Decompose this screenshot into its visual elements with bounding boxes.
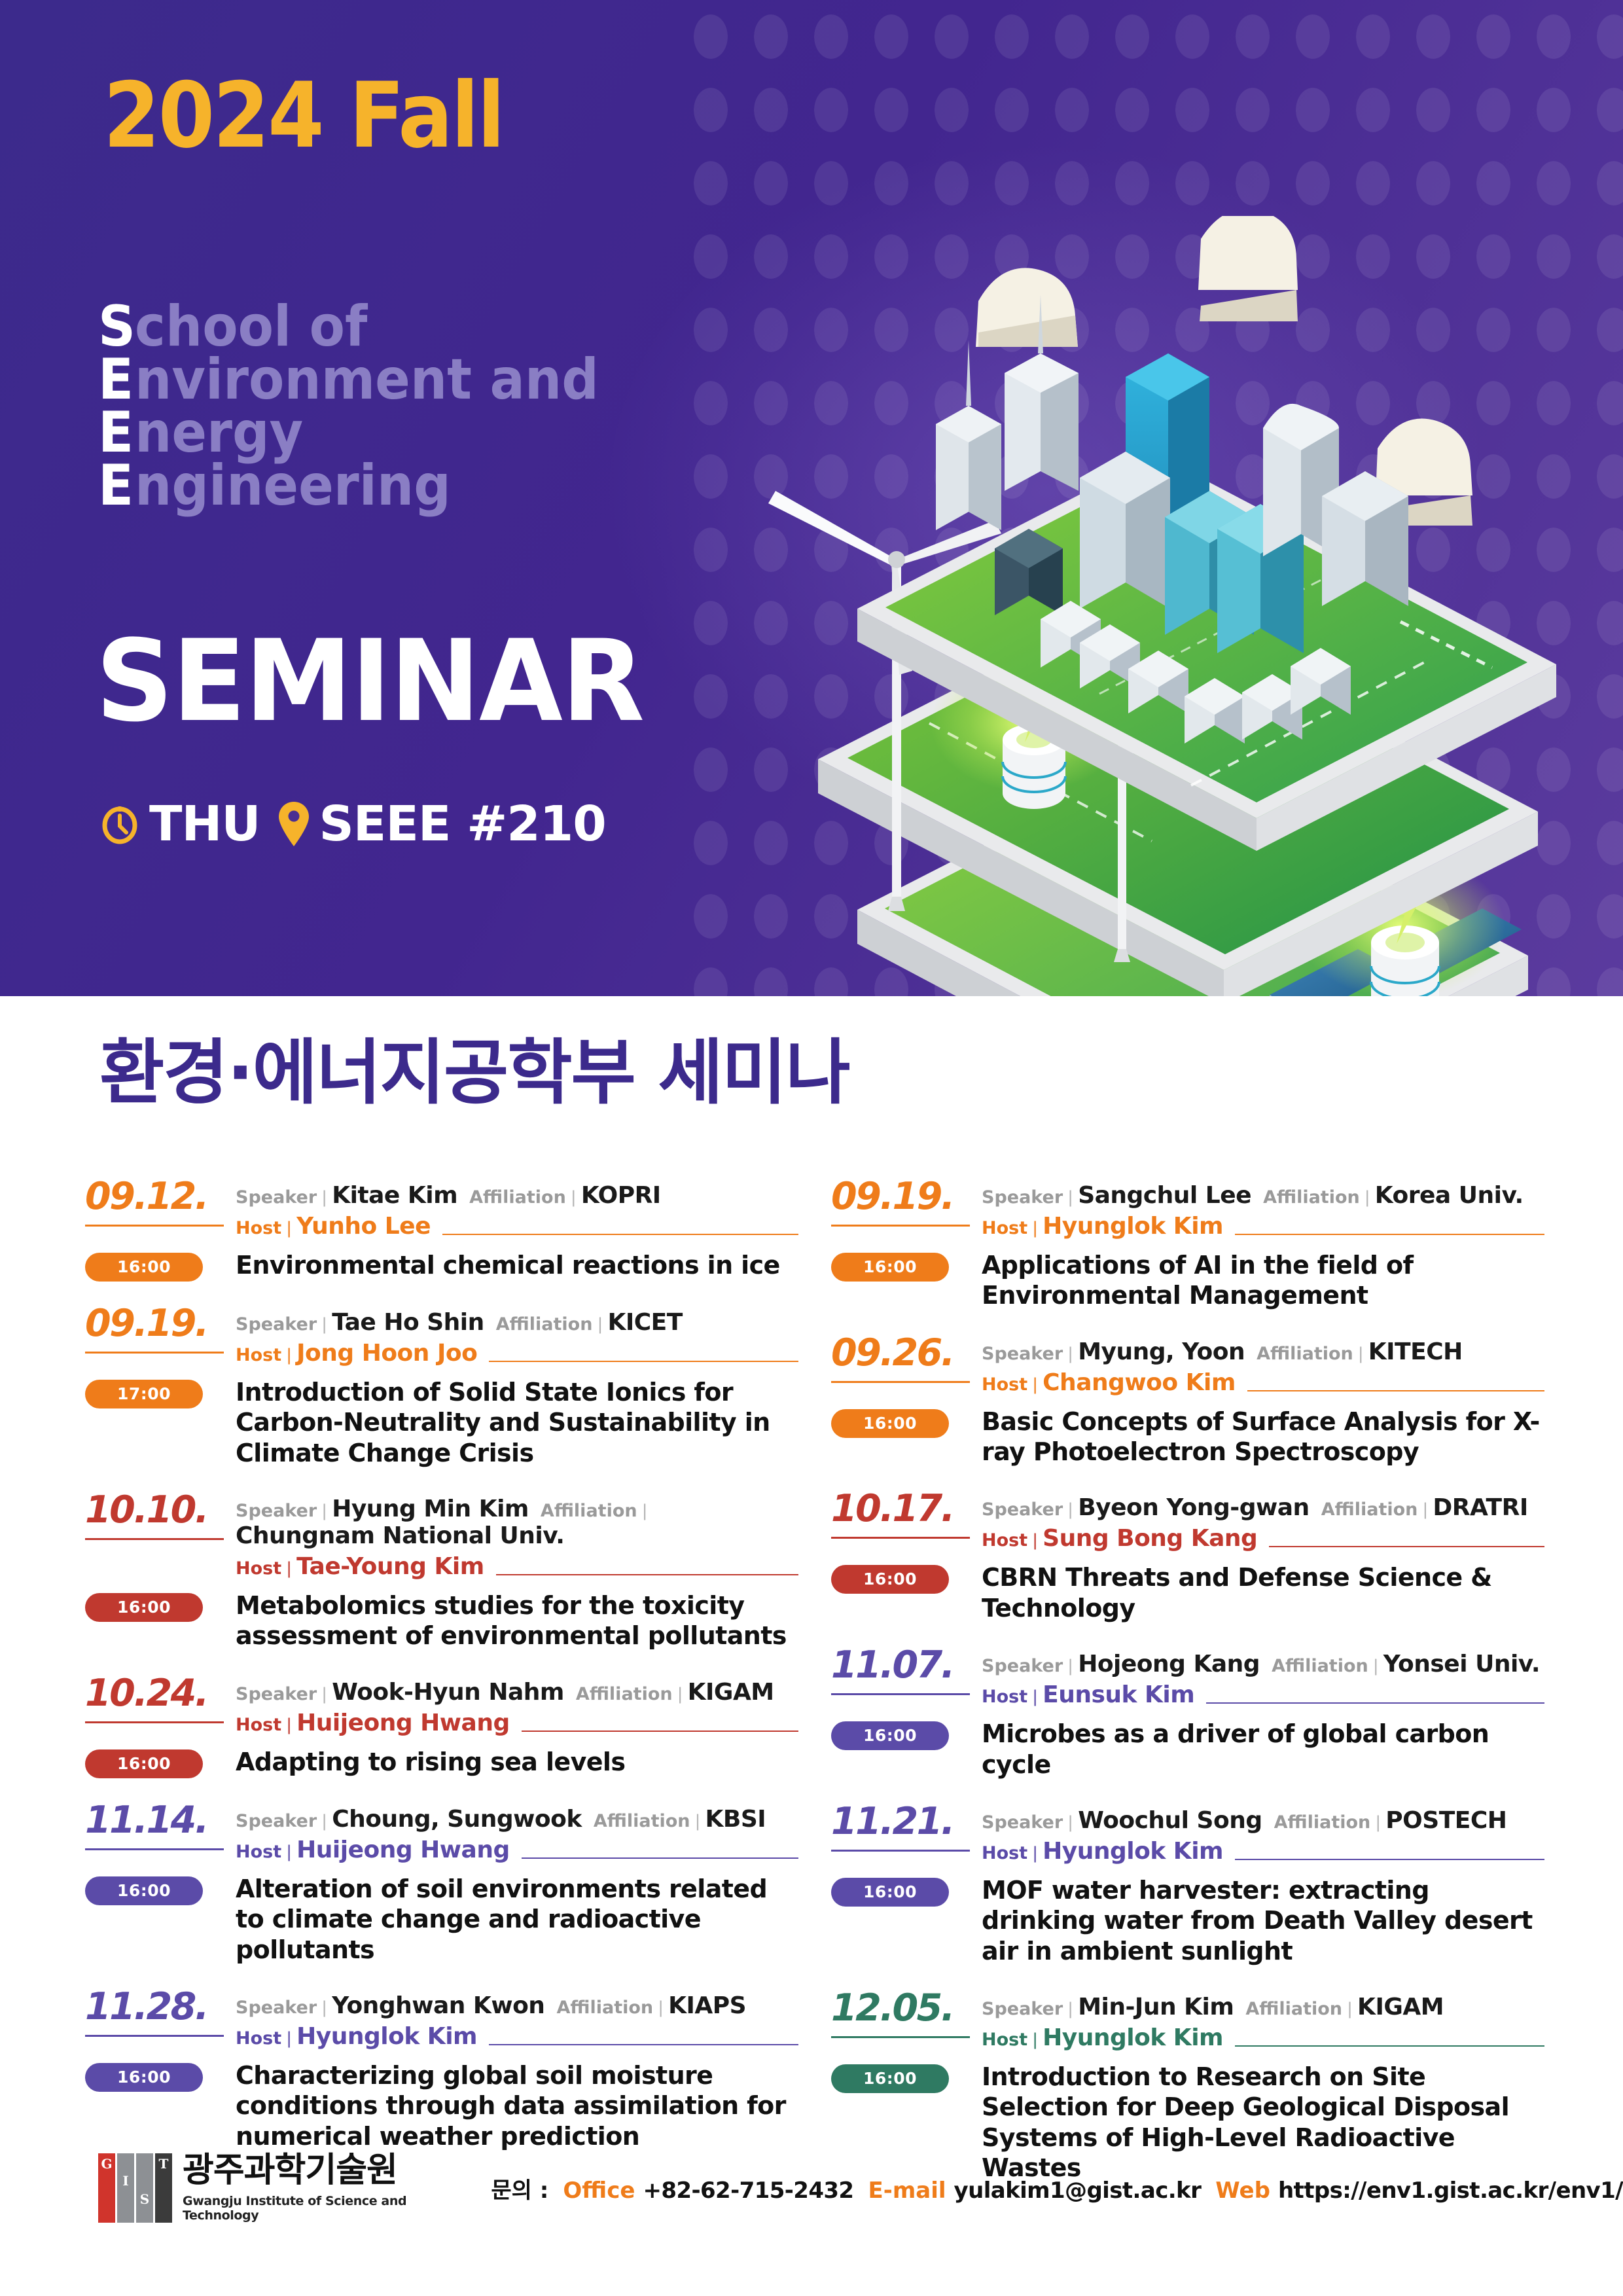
seminar-date: 11.14.	[85, 1802, 236, 1839]
time-cell: 16:00	[85, 2060, 236, 2092]
separator: |	[287, 1218, 291, 1238]
host-label: Host	[982, 1687, 1027, 1707]
time-badge: 16:00	[831, 1409, 949, 1438]
seminar-date: 10.10.	[85, 1492, 236, 1529]
host-label: Host	[236, 1345, 281, 1365]
affiliation-name: KIGAM	[688, 1679, 774, 1706]
email-address[interactable]: yulakim1@gist.ac.kr	[954, 2178, 1202, 2204]
affiliation-name: KITECH	[1368, 1338, 1463, 1365]
time-badge: 16:00	[85, 2063, 203, 2092]
separator: |	[287, 1558, 291, 1579]
separator: |	[1359, 1344, 1363, 1364]
date-cell: 11.28.	[85, 1988, 236, 2037]
date-underline	[85, 2035, 224, 2037]
info-cell: Speaker|Yonghwan KwonAffiliation|KIAPSHo…	[236, 1988, 798, 2050]
date-cell: 09.12.	[85, 1178, 236, 1227]
host-label: Host	[982, 1530, 1027, 1551]
separator: |	[287, 2028, 291, 2049]
affiliation-label: Affiliation	[594, 1811, 690, 1831]
seminar-entry: 09.19.Speaker|Tae Ho ShinAffiliation|KIC…	[85, 1305, 798, 1468]
seminar-entry: 10.17.Speaker|Byeon Yong-gwanAffiliation…	[831, 1490, 1544, 1623]
host-label: Host	[982, 1218, 1027, 1238]
seee-initial: E	[98, 407, 135, 459]
room-label: SEEE #210	[319, 796, 606, 852]
date-cell: 11.07.	[831, 1647, 982, 1695]
speaker-label: Speaker	[236, 1501, 317, 1521]
affiliation-label: Affiliation	[1263, 1187, 1360, 1208]
speaker-label: Speaker	[982, 1344, 1063, 1364]
host-name: Jong Hoon Joo	[296, 1340, 477, 1367]
host-underline	[1206, 1702, 1544, 1704]
host-name: Yunho Lee	[296, 1213, 431, 1240]
separator: |	[1376, 1812, 1380, 1833]
speaker-name: Woochul Song	[1078, 1807, 1262, 1834]
seminar-entry: 11.21.Speaker|Woochul SongAffiliation|PO…	[831, 1803, 1544, 1966]
host-label: Host	[982, 1374, 1027, 1395]
talk-title: Microbes as a driver of global carbon cy…	[982, 1719, 1544, 1780]
affiliation-label: Affiliation	[1272, 1656, 1368, 1676]
separator: |	[696, 1811, 700, 1831]
time-cell: 16:00	[831, 1719, 982, 1750]
host-underline	[489, 2044, 798, 2045]
gist-name-korean: 광주과학기술원	[183, 2153, 455, 2187]
time-cell: 16:00	[831, 1407, 982, 1438]
affiliation-label: Affiliation	[556, 1998, 653, 2018]
host-label: Host	[236, 2028, 281, 2049]
time-cell: 16:00	[85, 1590, 236, 1622]
date-cell: 09.19.	[831, 1178, 982, 1227]
separator: |	[1374, 1656, 1378, 1676]
separator: |	[287, 1345, 291, 1365]
separator: |	[678, 1684, 683, 1704]
seee-word: chool of	[135, 301, 367, 353]
separator: |	[1068, 1344, 1073, 1364]
time-badge: 16:00	[85, 1253, 203, 1282]
affiliation-label: Affiliation	[1257, 1344, 1353, 1364]
event-day: THU	[99, 796, 260, 852]
date-cell: 11.21.	[831, 1803, 982, 1852]
date-underline	[831, 1537, 970, 1539]
host-label: Host	[236, 1558, 281, 1579]
separator: |	[571, 1187, 576, 1208]
gist-letter-g: G	[98, 2153, 115, 2223]
info-cell: Speaker|Sangchul LeeAffiliation|Korea Un…	[982, 1178, 1544, 1240]
separator: |	[1033, 1374, 1037, 1395]
seee-row: E ngineering	[98, 460, 639, 513]
affiliation-label: Affiliation	[1245, 1999, 1342, 2019]
email-label: E-mail	[868, 2178, 946, 2204]
date-underline	[85, 1721, 224, 1723]
seminar-entry: 10.10.Speaker|Hyung Min KimAffiliation|C…	[85, 1492, 798, 1651]
time-badge: 16:00	[85, 1593, 203, 1622]
seee-row: E nergy	[98, 407, 639, 460]
hero-banner: 2024 Fall S chool of E nvironment and E …	[0, 0, 1623, 996]
host-underline	[1247, 1390, 1544, 1391]
host-name: Eunsuk Kim	[1043, 1681, 1194, 1708]
smart-city-illustration	[733, 216, 1603, 996]
talk-title: Metabolomics studies for the toxicity as…	[236, 1590, 798, 1651]
seminar-entry: 09.19.Speaker|Sangchul LeeAffiliation|Ko…	[831, 1178, 1544, 1311]
separator: |	[1068, 1499, 1073, 1520]
date-underline	[831, 2036, 970, 2038]
seminar-entry: 11.28.Speaker|Yonghwan KwonAffiliation|K…	[85, 1988, 798, 2151]
affiliation-name: DRATRI	[1433, 1494, 1527, 1521]
gist-letter-t: T	[155, 2153, 172, 2223]
speaker-name: Yonghwan Kwon	[332, 1992, 544, 2019]
time-badge: 17:00	[85, 1380, 203, 1408]
gist-letter-label: S	[136, 2191, 153, 2207]
gist-letter-i: I	[117, 2153, 134, 2223]
speaker-name: Hyung Min Kim	[332, 1496, 529, 1522]
gist-letter-label: G	[98, 2156, 115, 2172]
footer: G I S T 광주과학기술원 Gwangju Institute of Sci…	[98, 2153, 1623, 2223]
year-title: 2024 Fall	[103, 63, 503, 168]
info-cell: Speaker|Hyung Min KimAffiliation|Chungna…	[236, 1492, 798, 1580]
time-cell: 16:00	[831, 1562, 982, 1594]
separator: |	[287, 1715, 291, 1735]
time-badge: 16:00	[85, 1876, 203, 1905]
date-cell: 12.05.	[831, 1990, 982, 2038]
talk-title: MOF water harvester: extracting drinking…	[982, 1875, 1544, 1966]
seee-word: ngineering	[135, 460, 451, 512]
speaker-label: Speaker	[236, 1684, 317, 1704]
separator: |	[643, 1501, 647, 1521]
web-url[interactable]: https://env1.gist.ac.kr/env1/	[1278, 2178, 1623, 2204]
date-cell: 10.17.	[831, 1490, 982, 1539]
time-badge: 16:00	[831, 1878, 949, 1907]
seminar-date: 09.26.	[831, 1335, 982, 1372]
separator: |	[322, 1187, 327, 1208]
seminar-date: 09.19.	[85, 1305, 236, 1342]
seminar-entry: 11.14.Speaker|Choung, SungwookAffiliatio…	[85, 1802, 798, 1965]
speaker-label: Speaker	[236, 1998, 317, 2018]
date-cell: 09.26.	[831, 1335, 982, 1383]
korean-section-title: 환경·에너지공학부 세미나	[99, 1016, 849, 1118]
affiliation-label: Affiliation	[1321, 1499, 1418, 1520]
seee-initial: E	[98, 354, 135, 406]
seee-initial: E	[98, 460, 135, 512]
contact-info: 문의 : Office +82-62-715-2432 E-mail yulak…	[491, 2172, 1623, 2204]
host-underline	[522, 1731, 798, 1732]
host-underline	[442, 1234, 798, 1235]
schedule-column-left: 09.12.Speaker|Kitae KimAffiliation|KOPRI…	[85, 1178, 798, 2206]
host-name: Sung Bong Kang	[1043, 1525, 1257, 1552]
seee-row: E nvironment and	[98, 354, 639, 407]
speaker-label: Speaker	[982, 1499, 1063, 1520]
date-cell: 10.24.	[85, 1675, 236, 1723]
affiliation-label: Affiliation	[576, 1684, 673, 1704]
seee-word: nergy	[135, 407, 303, 459]
affiliation-name: KIAPS	[668, 1992, 746, 2019]
separator: |	[1033, 2030, 1037, 2050]
seminar-date: 12.05.	[831, 1990, 982, 2027]
time-badge: 16:00	[85, 1749, 203, 1778]
speaker-name: Kitae Kim	[332, 1182, 457, 1209]
date-underline	[831, 1381, 970, 1383]
time-cell: 16:00	[831, 1250, 982, 1282]
separator: |	[1068, 1187, 1073, 1208]
speaker-label: Speaker	[982, 1187, 1063, 1208]
clock-icon	[99, 804, 140, 844]
cloud-icon	[976, 268, 1078, 347]
speaker-label: Speaker	[982, 1812, 1063, 1833]
host-underline	[1235, 1234, 1544, 1235]
speaker-name: Byeon Yong-gwan	[1078, 1494, 1310, 1521]
schedule-column-right: 09.19.Speaker|Sangchul LeeAffiliation|Ko…	[831, 1178, 1544, 2206]
host-underline	[496, 1574, 798, 1575]
host-name: Hyunglok Kim	[1043, 1213, 1223, 1240]
day-label: THU	[149, 796, 260, 852]
office-label: Office	[563, 2178, 635, 2204]
date-cell: 09.19.	[85, 1305, 236, 1354]
separator: |	[1033, 1687, 1037, 1707]
talk-title: Environmental chemical reactions in ice	[236, 1250, 798, 1280]
seminar-date: 11.07.	[831, 1647, 982, 1684]
gist-letter-label: T	[155, 2156, 172, 2172]
gist-letter-s: S	[136, 2153, 153, 2223]
info-cell: Speaker|Hojeong KangAffiliation|Yonsei U…	[982, 1647, 1544, 1708]
host-label: Host	[236, 1842, 281, 1862]
info-cell: Speaker|Tae Ho ShinAffiliation|KICETHost…	[236, 1305, 798, 1367]
info-cell: Speaker|Min-Jun KimAffiliation|KIGAMHost…	[982, 1990, 1544, 2051]
date-underline	[831, 1225, 970, 1227]
affiliation-label: Affiliation	[469, 1187, 566, 1208]
seminar-date: 09.19.	[831, 1178, 982, 1215]
contact-label: 문의 :	[491, 2172, 548, 2204]
separator: |	[322, 1684, 327, 1704]
time-cell: 16:00	[831, 1875, 982, 1907]
date-underline	[85, 1225, 224, 1227]
seminar-entry: 09.12.Speaker|Kitae KimAffiliation|KOPRI…	[85, 1178, 798, 1282]
talk-title: Basic Concepts of Surface Analysis for X…	[982, 1407, 1544, 1467]
separator: |	[322, 1998, 327, 2018]
host-underline	[489, 1361, 798, 1362]
host-name: Hyunglok Kim	[1043, 2024, 1223, 2051]
seminar-date: 11.28.	[85, 1988, 236, 2026]
seee-acronym-block: S chool of E nvironment and E nergy E ng…	[98, 301, 639, 513]
affiliation-name: POSTECH	[1385, 1807, 1507, 1834]
host-name: Huijeong Hwang	[296, 1837, 510, 1863]
seminar-date: 10.17.	[831, 1490, 982, 1528]
date-cell: 10.10.	[85, 1492, 236, 1540]
speaker-name: Sangchul Lee	[1078, 1182, 1251, 1209]
speaker-name: Choung, Sungwook	[332, 1806, 582, 1833]
host-label: Host	[982, 2030, 1027, 2050]
talk-title: Applications of AI in the field of Envir…	[982, 1250, 1544, 1311]
seminar-date: 11.21.	[831, 1803, 982, 1840]
date-underline	[85, 1848, 224, 1850]
seminar-headline: SEMINAR	[96, 615, 643, 747]
info-cell: Speaker|Choung, SungwookAffiliation|KBSI…	[236, 1802, 798, 1863]
gist-logo: G I S T 광주과학기술원 Gwangju Institute of Sci…	[98, 2153, 455, 2223]
date-underline	[831, 1693, 970, 1695]
host-label: Host	[236, 1715, 281, 1735]
seee-initial: S	[98, 301, 135, 353]
gist-name-english: Gwangju Institute of Science and Technol…	[183, 2194, 455, 2223]
event-location: SEEE #210	[277, 796, 606, 852]
affiliation-label: Affiliation	[496, 1314, 593, 1335]
talk-title: Introduction of Solid State Ionics for C…	[236, 1377, 798, 1468]
seminar-entry: 11.07.Speaker|Hojeong KangAffiliation|Yo…	[831, 1647, 1544, 1780]
gist-letter-label: I	[117, 2173, 134, 2189]
time-cell: 16:00	[831, 2062, 982, 2093]
info-cell: Speaker|Kitae KimAffiliation|KOPRIHost|Y…	[236, 1178, 798, 1240]
affiliation-label: Affiliation	[1274, 1812, 1371, 1833]
time-cell: 16:00	[85, 1874, 236, 1905]
host-name: Huijeong Hwang	[296, 1710, 510, 1736]
time-cell: 16:00	[85, 1250, 236, 1282]
host-underline	[1269, 1546, 1544, 1547]
affiliation-name: KICET	[607, 1309, 682, 1336]
separator: |	[1033, 1218, 1037, 1238]
affiliation-name: Korea Univ.	[1375, 1182, 1524, 1209]
separator: |	[322, 1811, 327, 1831]
info-cell: Speaker|Wook-Hyun NahmAffiliation|KIGAMH…	[236, 1675, 798, 1736]
date-cell: 11.14.	[85, 1802, 236, 1850]
seminar-date: 10.24.	[85, 1675, 236, 1712]
seminar-entry: 10.24.Speaker|Wook-Hyun NahmAffiliation|…	[85, 1675, 798, 1778]
seminar-entry: 09.26.Speaker|Myung, YoonAffiliation|KIT…	[831, 1335, 1544, 1467]
host-underline	[1235, 1859, 1544, 1860]
time-cell: 17:00	[85, 1377, 236, 1408]
host-name: Hyunglok Kim	[296, 2023, 477, 2050]
speaker-name: Hojeong Kang	[1078, 1651, 1260, 1677]
host-label: Host	[236, 1218, 281, 1238]
gist-logo-mark: G I S T	[98, 2153, 172, 2223]
date-underline	[85, 1538, 224, 1540]
time-badge: 16:00	[831, 2064, 949, 2093]
affiliation-name: KOPRI	[581, 1182, 661, 1209]
separator: |	[1068, 1812, 1073, 1833]
location-pin-icon	[277, 800, 310, 848]
speaker-label: Speaker	[236, 1314, 317, 1335]
host-name: Changwoo Kim	[1043, 1369, 1236, 1396]
speaker-label: Speaker	[236, 1811, 317, 1831]
separator: |	[1068, 1999, 1073, 2019]
time-badge: 16:00	[831, 1721, 949, 1750]
seee-word: nvironment and	[135, 354, 599, 406]
cloud-icon	[1198, 216, 1298, 321]
seminar-date: 09.12.	[85, 1178, 236, 1215]
affiliation-name: Chungnam National Univ.	[236, 1522, 564, 1549]
speaker-label: Speaker	[982, 1656, 1063, 1676]
separator: |	[1033, 1843, 1037, 1863]
talk-title: CBRN Threats and Defense Science & Techn…	[982, 1562, 1544, 1623]
host-name: Hyunglok Kim	[1043, 1838, 1223, 1865]
event-meta-row: THU SEEE #210	[99, 796, 606, 852]
host-label: Host	[982, 1843, 1027, 1863]
info-cell: Speaker|Myung, YoonAffiliation|KITECHHos…	[982, 1335, 1544, 1396]
seee-row: S chool of	[98, 301, 639, 354]
talk-title: Adapting to rising sea levels	[236, 1747, 798, 1777]
date-underline	[85, 1352, 224, 1354]
affiliation-name: Yonsei Univ.	[1383, 1651, 1540, 1677]
time-cell: 16:00	[85, 1747, 236, 1778]
info-cell: Speaker|Woochul SongAffiliation|POSTECHH…	[982, 1803, 1544, 1865]
talk-title: Characterizing global soil moisture cond…	[236, 2060, 798, 2151]
info-cell: Speaker|Byeon Yong-gwanAffiliation|DRATR…	[982, 1490, 1544, 1552]
date-underline	[831, 1850, 970, 1852]
web-label: Web	[1215, 2178, 1270, 2204]
separator: |	[287, 1842, 291, 1862]
seminar-schedule: 09.12.Speaker|Kitae KimAffiliation|KOPRI…	[85, 1178, 1544, 2206]
separator: |	[1347, 1999, 1352, 2019]
separator: |	[322, 1501, 327, 1521]
separator: |	[597, 1314, 602, 1335]
speaker-name: Wook-Hyun Nahm	[332, 1679, 564, 1706]
separator: |	[1068, 1656, 1073, 1676]
affiliation-label: Affiliation	[541, 1501, 637, 1521]
speaker-label: Speaker	[236, 1187, 317, 1208]
separator: |	[322, 1314, 327, 1335]
host-underline	[1235, 2045, 1544, 2047]
speaker-label: Speaker	[982, 1999, 1063, 2019]
host-name: Tae-Young Kim	[296, 1553, 484, 1580]
host-underline	[522, 1857, 798, 1859]
speaker-name: Tae Ho Shin	[332, 1309, 484, 1336]
separator: |	[1423, 1499, 1427, 1520]
separator: |	[658, 1998, 663, 2018]
separator: |	[1033, 1530, 1037, 1551]
time-badge: 16:00	[831, 1565, 949, 1594]
talk-title: Alteration of soil environments related …	[236, 1874, 798, 1965]
affiliation-name: KIGAM	[1357, 1994, 1444, 2020]
affiliation-name: KBSI	[705, 1806, 766, 1833]
speaker-name: Min-Jun Kim	[1078, 1994, 1234, 2020]
separator: |	[1365, 1187, 1370, 1208]
speaker-name: Myung, Yoon	[1078, 1338, 1245, 1365]
time-badge: 16:00	[831, 1253, 949, 1282]
office-phone[interactable]: +82-62-715-2432	[643, 2178, 853, 2204]
